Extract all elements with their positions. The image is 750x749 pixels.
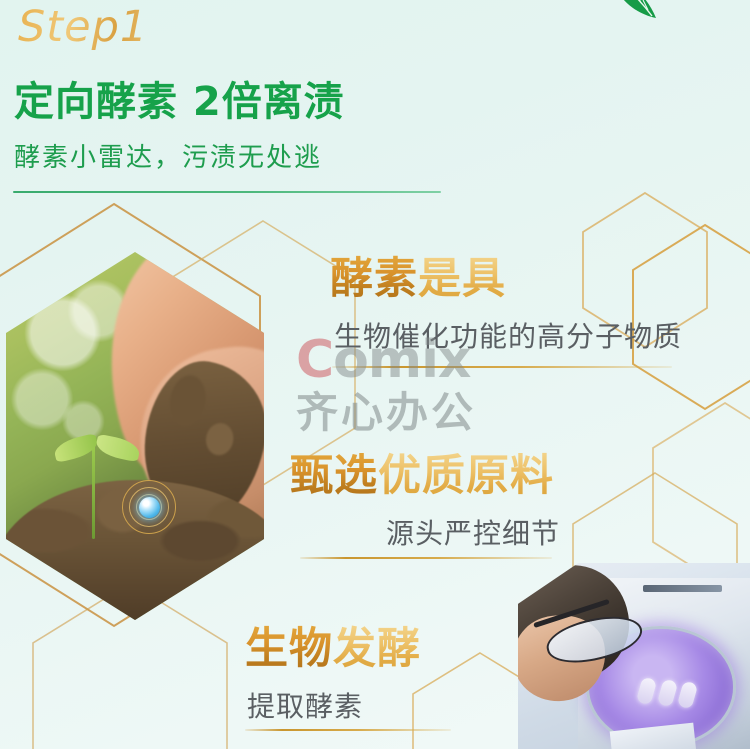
lab-scientist-photo: [518, 563, 750, 749]
feature-subtitle-1: 生物催化功能的高分子物质: [334, 315, 682, 355]
sprout-stem: [92, 443, 95, 539]
feature-divider-3: [245, 729, 451, 731]
feature-divider-2: [300, 557, 552, 559]
soil-seedling-photo: [6, 252, 264, 620]
feature-title-1-light: 是具: [418, 254, 506, 304]
step-label: Step1: [18, 2, 148, 52]
feature-title-2-light: 优质原料: [378, 451, 554, 501]
page-subtitle: 酵素小雷达，污渍无处逃: [14, 137, 322, 174]
header-divider: [13, 191, 441, 193]
feature-block-enzyme: 酵素是具 生物催化功能的高分子物质: [330, 258, 682, 355]
enzyme-orb: [122, 480, 176, 534]
feature-title-1-dark: 酵素: [330, 254, 418, 304]
feature-block-material: 甄选优质原料 源头严控细节: [290, 455, 560, 552]
watermark-letter-c: C: [296, 330, 333, 390]
feature-block-fermentation: 生物发酵 提取酵素: [245, 628, 421, 725]
feature-title-1: 酵素是具: [330, 258, 682, 301]
feature-subtitle-2: 源头严控细节: [386, 512, 560, 552]
page-title: 定向酵素 2倍离渍: [14, 69, 345, 127]
leaf-icon: [606, 0, 662, 22]
promo-page: Step1 定向酵素 2倍离渍 酵素小雷达，污渍无处逃: [0, 0, 750, 749]
lab-panel: [643, 585, 722, 592]
watermark-chinese: 齐心办公: [296, 379, 476, 440]
feature-title-3-light: 发酵: [333, 624, 421, 674]
feature-subtitle-3: 提取酵素: [247, 685, 421, 725]
feature-divider-1: [332, 366, 672, 368]
feature-title-3-dark: 生物: [245, 624, 333, 674]
feature-title-2-dark: 甄选: [290, 451, 378, 501]
feature-title-3: 生物发酵: [245, 628, 421, 671]
feature-title-2: 甄选优质原料: [290, 455, 560, 498]
hexagon-decor-right-low: [650, 400, 750, 590]
